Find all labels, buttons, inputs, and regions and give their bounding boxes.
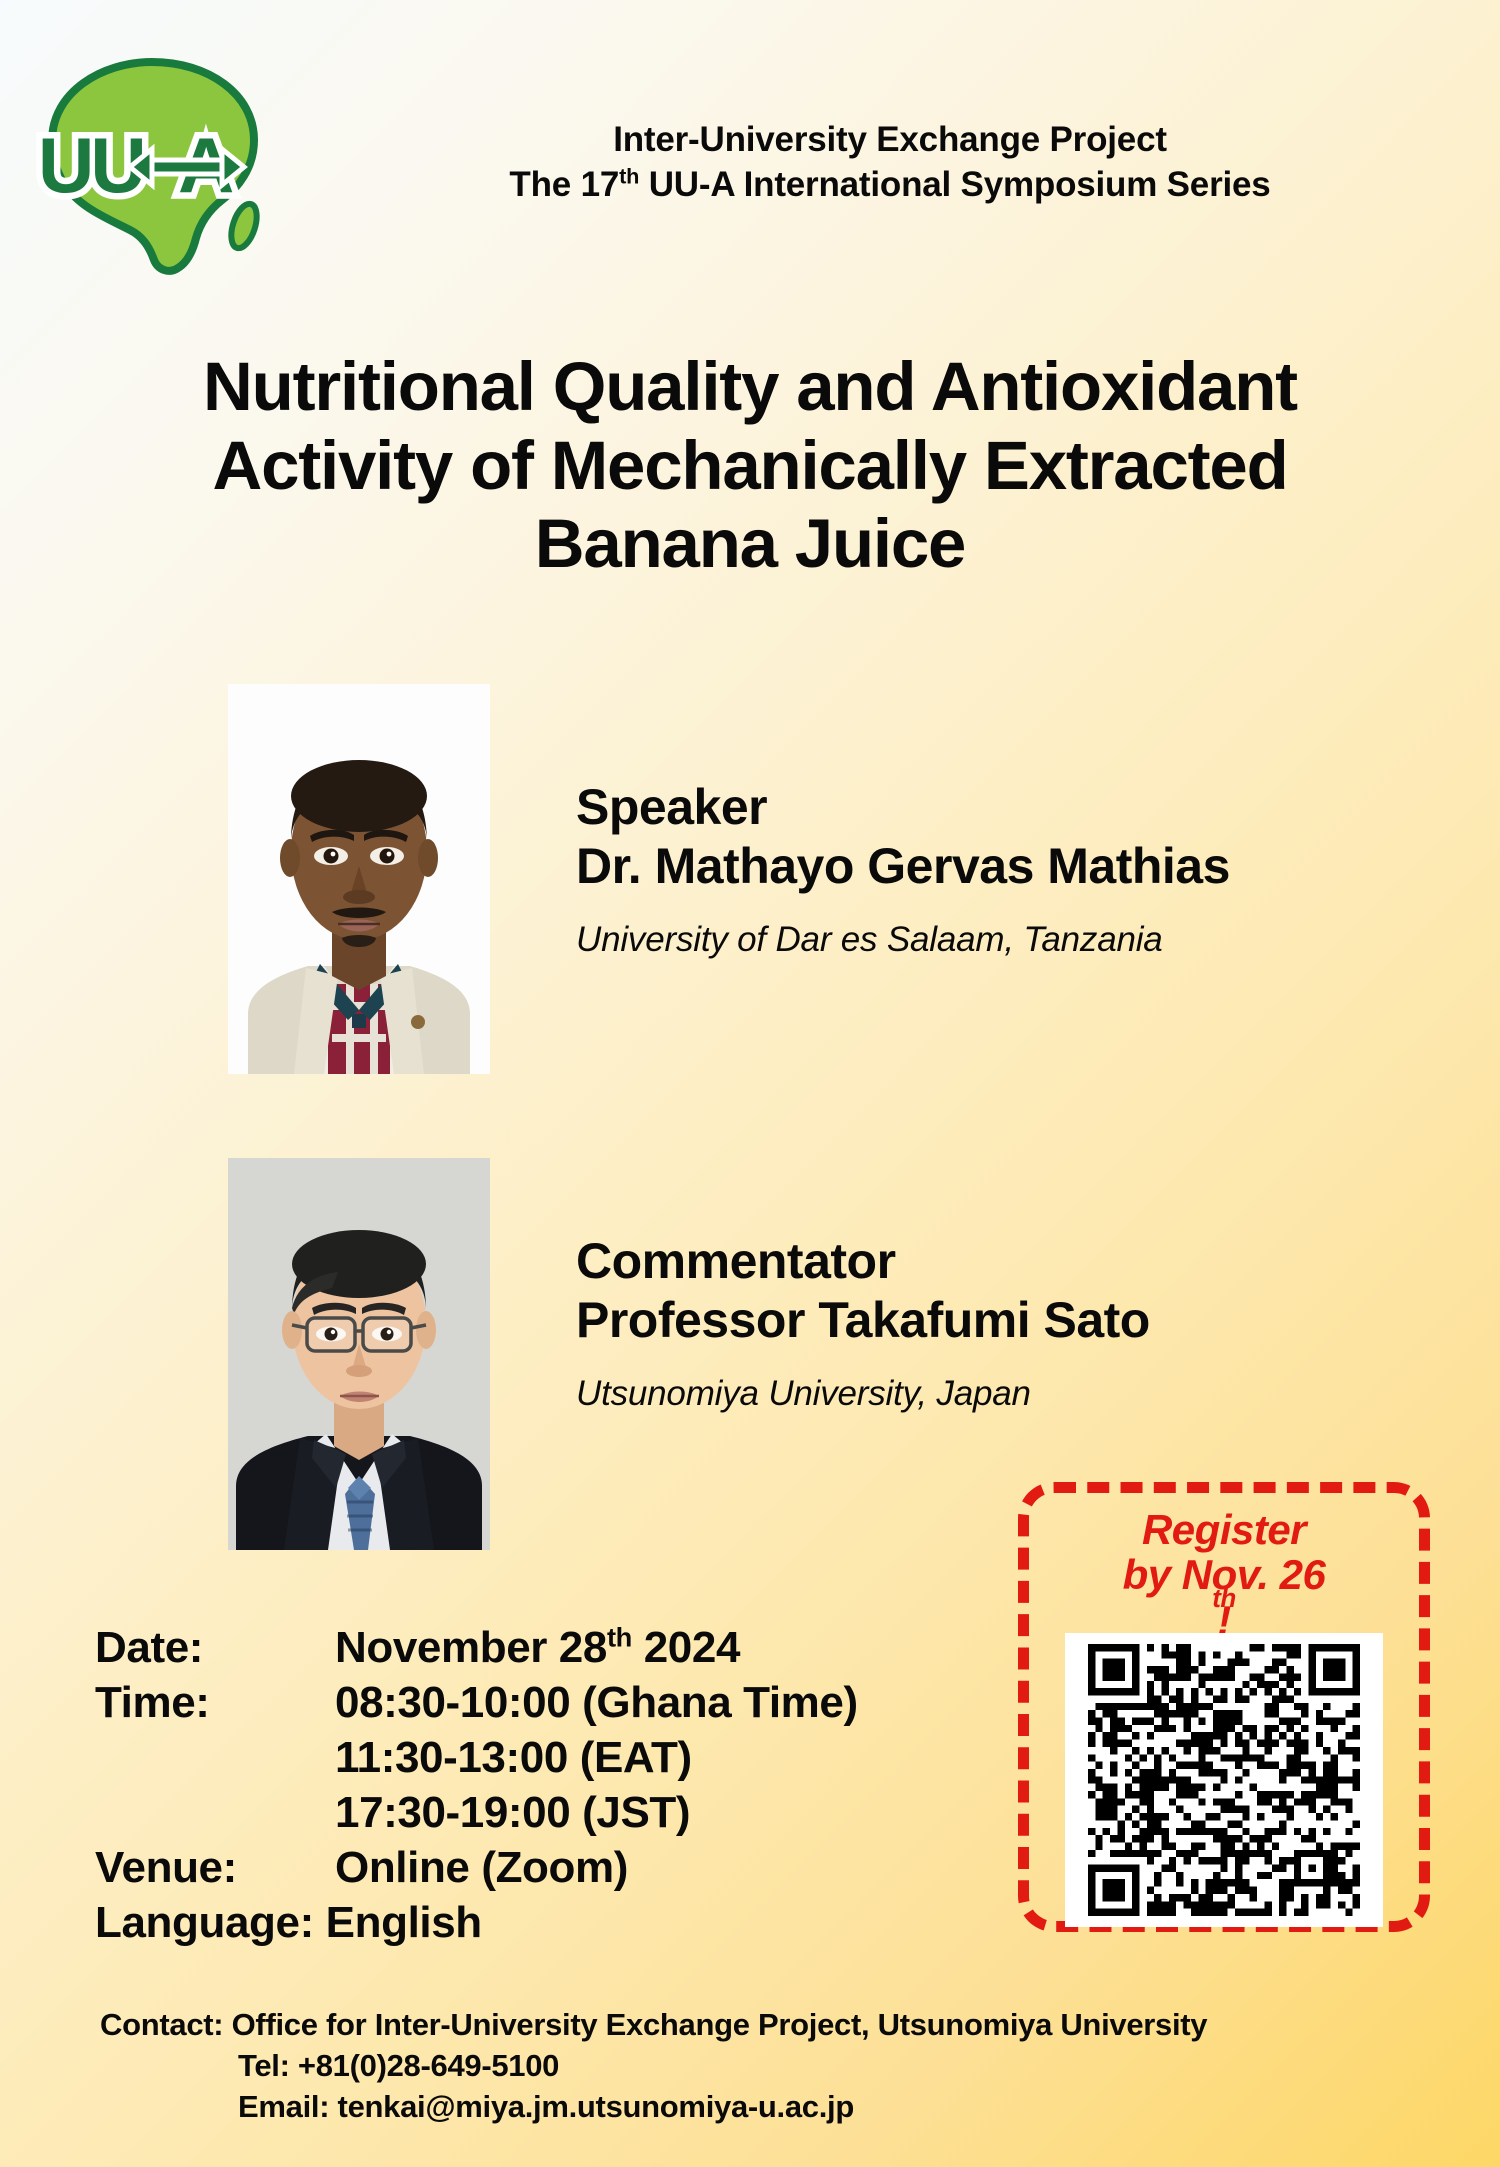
detail-row-time-eat: 11:30-13:00 (EAT) <box>95 1736 858 1791</box>
commentator-role: Commentator <box>576 1232 1150 1291</box>
detail-row-time-jst: 17:30-19:00 (JST) <box>95 1791 858 1846</box>
title-line-3: Banana Juice <box>20 505 1480 584</box>
title-line-2: Activity of Mechanically Extracted <box>20 427 1480 506</box>
time-value-ghana: 08:30-10:00 (Ghana Time) <box>335 1681 858 1725</box>
speaker-photo <box>228 684 490 1074</box>
commentator-name: Professor Takafumi Sato <box>576 1291 1150 1350</box>
speaker-name: Dr. Mathayo Gervas Mathias <box>576 837 1230 896</box>
commentator-text-block: Commentator Professor Takafumi Sato Utsu… <box>576 1232 1150 1414</box>
date-value-post: 2024 <box>632 1623 740 1672</box>
contact-office: Contact: Office for Inter-University Exc… <box>100 2004 1480 2045</box>
detail-row-venue: Venue: Online (Zoom) <box>95 1846 858 1901</box>
date-label: Date: <box>95 1626 335 1670</box>
qr-code[interactable] <box>1088 1644 1360 1916</box>
header-line-2-post: UU-A International Symposium Series <box>639 165 1270 204</box>
uua-logo: UU UU A A <box>30 48 290 278</box>
title-line-1: Nutritional Quality and Antioxidant <box>20 348 1480 427</box>
speaker-text-block: Speaker Dr. Mathayo Gervas Mathias Unive… <box>576 778 1230 960</box>
contact-email: Email: tenkai@miya.jm.utsunomiya-u.ac.jp <box>100 2086 1480 2127</box>
detail-row-time: Time: 08:30-10:00 (Ghana Time) <box>95 1681 858 1736</box>
commentator-photo <box>228 1158 490 1550</box>
detail-row-language: Language: English <box>95 1901 858 1956</box>
detail-row-date: Date: November 28th 2024 <box>95 1626 858 1681</box>
header-line-2-pre: The 17 <box>509 165 619 204</box>
header-line-2-ordinal: th <box>619 163 639 188</box>
header-title-block: Inter-University Exchange Project The 17… <box>300 118 1480 208</box>
qr-code-container[interactable] <box>1065 1633 1383 1927</box>
language-line: Language: English <box>95 1901 482 1945</box>
time-value-eat: 11:30-13:00 (EAT) <box>335 1736 692 1780</box>
poster-header: UU UU A A Inter-University Exchange Proj… <box>0 0 1500 330</box>
header-line-1: Inter-University Exchange Project <box>300 118 1480 163</box>
commentator-affiliation: Utsunomiya University, Japan <box>576 1374 1150 1414</box>
speaker-affiliation: University of Dar es Salaam, Tanzania <box>576 920 1230 960</box>
venue-label: Venue: <box>95 1846 335 1890</box>
date-value-ordinal: th <box>607 1621 632 1652</box>
header-line-2: The 17th UU-A International Symposium Se… <box>300 163 1480 208</box>
date-value-pre: November 28 <box>335 1623 607 1672</box>
speaker-role: Speaker <box>576 778 1230 837</box>
event-details: Date: November 28th 2024 Time: 08:30-10:… <box>95 1626 858 1956</box>
contact-tel: Tel: +81(0)28-649-5100 <box>100 2045 1480 2086</box>
svg-text:UU: UU <box>38 121 143 209</box>
register-line-2: by Nov. 26th! <box>1029 1552 1419 1643</box>
time-label: Time: <box>95 1681 335 1725</box>
register-line-1: Register <box>1029 1507 1419 1552</box>
contact-block: Contact: Office for Inter-University Exc… <box>100 2004 1480 2128</box>
logo-wordmark: UU UU A A <box>38 121 244 209</box>
register-callout[interactable]: Register by Nov. 26th! <box>1018 1482 1430 1932</box>
time-value-jst: 17:30-19:00 (JST) <box>335 1791 690 1835</box>
page-title: Nutritional Quality and Antioxidant Acti… <box>20 348 1480 584</box>
date-value: November 28th 2024 <box>335 1626 740 1670</box>
register-text: Register by Nov. 26th! <box>1029 1507 1419 1643</box>
venue-value: Online (Zoom) <box>335 1846 628 1890</box>
